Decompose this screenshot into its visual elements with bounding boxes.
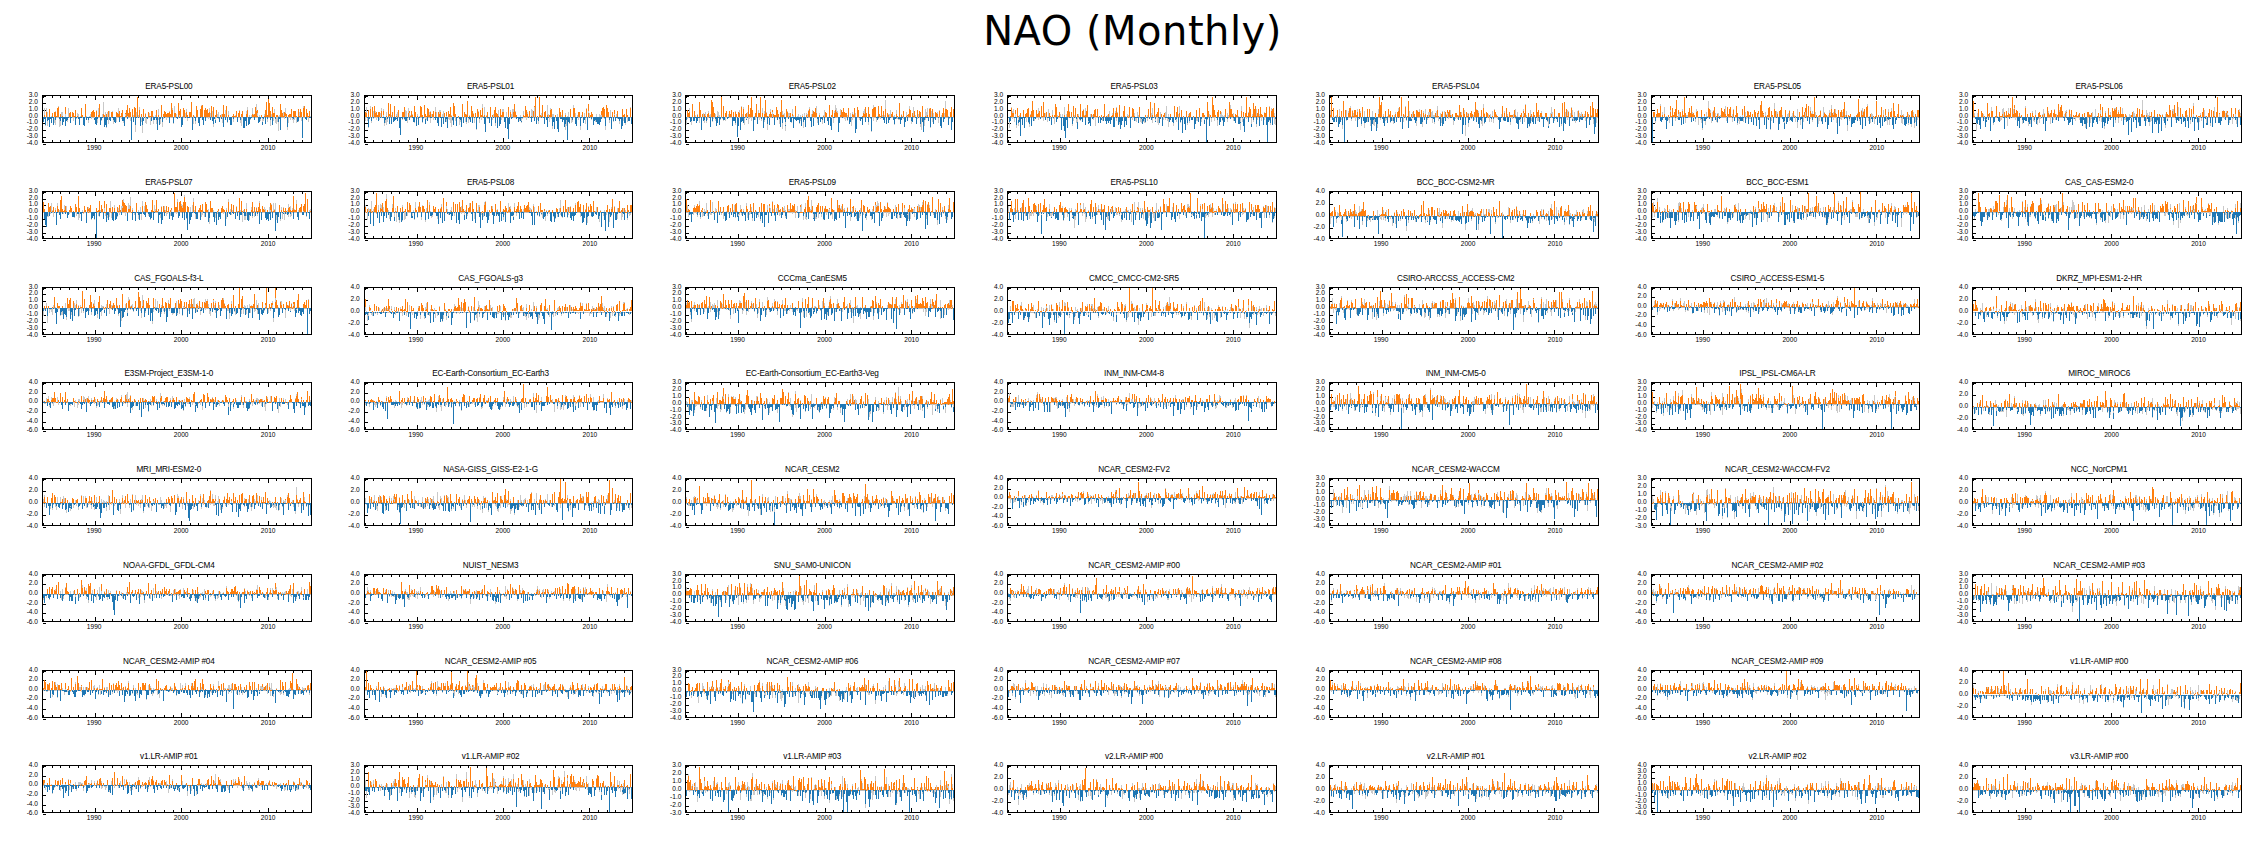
negative-anomaly-bar — [694, 691, 695, 692]
negative-anomaly-bar — [1114, 117, 1115, 127]
negative-anomaly-bar — [1134, 312, 1135, 323]
negative-anomaly-bar — [2063, 595, 2064, 602]
negative-anomaly-bar — [1061, 117, 1062, 130]
negative-anomaly-bar — [2217, 790, 2218, 797]
reference-bar — [774, 595, 775, 600]
y-axis-labels: 3.02.01.00.0-1.0-2.0-3.0-4.0 — [651, 191, 683, 239]
negative-anomaly-bar — [611, 503, 612, 510]
reference-bar — [1114, 498, 1115, 500]
negative-anomaly-bar — [1589, 594, 1590, 595]
reference-bar — [596, 787, 597, 788]
negative-anomaly-bar — [1121, 690, 1122, 697]
negative-anomaly-bar — [179, 308, 180, 309]
x-axis-minor-tick — [1598, 236, 1599, 238]
reference-bar — [461, 212, 462, 214]
negative-anomaly-bar — [1444, 594, 1445, 595]
negative-anomaly-bar — [768, 212, 769, 223]
plot-area — [43, 671, 311, 717]
reference-bar — [2117, 790, 2118, 793]
x-axis-labels: 199020002010 — [1651, 145, 1921, 157]
positive-anomaly-bar — [71, 678, 72, 689]
x-tick-label: 1990 — [730, 624, 745, 631]
negative-anomaly-bar — [1724, 790, 1725, 793]
negative-anomaly-bar — [557, 312, 558, 315]
reference-bar — [285, 308, 286, 318]
reference-bar — [918, 308, 919, 309]
plot-area — [1973, 192, 2241, 238]
negative-anomaly-bar — [1571, 404, 1572, 409]
y-tick-label: -4.0 — [348, 810, 359, 817]
negative-anomaly-bar — [937, 212, 938, 220]
negative-anomaly-bar — [102, 402, 103, 403]
y-tick-label: -4.0 — [670, 427, 681, 434]
negative-anomaly-bar — [1727, 307, 1728, 311]
y-tick-label: 0.0 — [672, 499, 681, 506]
negative-anomaly-bar — [1378, 308, 1379, 317]
y-tick-label: 2.0 — [1959, 295, 1968, 302]
negative-anomaly-bar — [1354, 216, 1355, 227]
negative-anomaly-bar — [1271, 594, 1272, 602]
x-tick-label: 2000 — [817, 432, 832, 439]
y-axis-labels: 3.02.01.00.0-1.0-2.0-3.0-4.0 — [1295, 382, 1327, 430]
negative-anomaly-bar — [485, 787, 486, 788]
negative-anomaly-bar — [427, 117, 428, 122]
negative-anomaly-bar — [828, 308, 829, 316]
negative-anomaly-bar — [127, 212, 128, 221]
positive-anomaly-bar — [889, 678, 890, 691]
negative-anomaly-bar — [1782, 594, 1783, 602]
negative-anomaly-bar — [609, 787, 610, 812]
reference-bar — [586, 312, 587, 313]
x-axis-labels: 199020002010 — [1329, 815, 1599, 827]
reference-bar — [1895, 307, 1896, 308]
reference-bar — [2201, 212, 2202, 214]
y-axis-labels: 3.02.01.00.0-1.0-2.0-3.0-4.0 — [651, 287, 683, 335]
plot-axes — [1651, 287, 1921, 335]
negative-anomaly-bar — [2212, 117, 2213, 128]
positive-anomaly-bar — [292, 673, 293, 690]
x-axis-minor-tick — [954, 671, 955, 673]
positive-anomaly-bar — [1593, 108, 1594, 117]
positive-anomaly-bar — [1860, 192, 1861, 212]
negative-anomaly-bar — [1242, 402, 1243, 403]
positive-anomaly-bar — [310, 586, 311, 594]
positive-anomaly-bar — [1773, 493, 1774, 503]
positive-anomaly-bar — [2094, 401, 2095, 408]
x-tick-label: 2000 — [1782, 720, 1797, 727]
reference-bar — [1383, 790, 1384, 798]
negative-anomaly-bar — [99, 402, 100, 406]
negative-anomaly-bar — [551, 212, 552, 222]
negative-anomaly-bar — [2083, 595, 2084, 605]
x-tick-label: 2000 — [1139, 241, 1154, 248]
negative-anomaly-bar — [113, 212, 114, 221]
y-tick-label: -4.0 — [992, 705, 1003, 712]
negative-anomaly-bar — [133, 503, 134, 510]
negative-anomaly-bar — [1652, 117, 1653, 129]
reference-bar — [2222, 117, 2223, 118]
x-axis-minor-tick — [1598, 140, 1599, 142]
plot-axes — [1972, 287, 2242, 335]
negative-anomaly-bar — [1388, 308, 1389, 312]
plot-area — [43, 383, 311, 429]
x-axis-labels: 199020002010 — [364, 528, 634, 540]
negative-anomaly-bar — [1339, 308, 1340, 312]
positive-anomaly-bar — [56, 585, 57, 593]
negative-anomaly-bar — [156, 594, 157, 598]
negative-anomaly-bar — [1035, 402, 1036, 408]
reference-bar — [1660, 307, 1661, 309]
x-axis-minor-tick — [2241, 766, 2242, 768]
positive-anomaly-bar — [1225, 109, 1226, 116]
y-tick-label: -2.0 — [992, 408, 1003, 415]
negative-anomaly-bar — [1070, 312, 1071, 313]
y-tick-label: 4.0 — [994, 475, 1003, 482]
negative-anomaly-bar — [182, 212, 183, 217]
negative-anomaly-bar — [1733, 790, 1734, 806]
positive-anomaly-bar — [731, 584, 732, 595]
negative-anomaly-bar — [2191, 212, 2192, 215]
negative-anomaly-bar — [420, 402, 421, 408]
reference-bar — [606, 594, 607, 602]
negative-anomaly-bar — [544, 503, 545, 507]
negative-anomaly-bar — [272, 212, 273, 218]
positive-anomaly-bar — [725, 394, 726, 404]
x-axis-minor-tick — [954, 619, 955, 621]
reference-bar — [1507, 404, 1508, 410]
negative-anomaly-bar — [1146, 690, 1147, 694]
negative-anomaly-bar — [580, 312, 581, 319]
x-axis-minor-tick — [1598, 810, 1599, 812]
negative-anomaly-bar — [2074, 407, 2075, 413]
negative-anomaly-bar — [924, 404, 925, 418]
negative-anomaly-bar — [1528, 790, 1529, 796]
positive-anomaly-bar — [1854, 489, 1855, 503]
positive-anomaly-bar — [1984, 584, 1985, 595]
negative-anomaly-bar — [1980, 117, 1981, 123]
x-axis-minor-tick — [2241, 810, 2242, 812]
subplot-title: DKRZ_MPI-ESM1-2-HR — [1938, 274, 2260, 283]
negative-anomaly-bar — [873, 503, 874, 505]
negative-anomaly-bar — [147, 594, 148, 596]
x-axis-minor-tick — [1598, 96, 1599, 98]
plot-axes — [685, 765, 955, 813]
y-tick-label: -2.0 — [27, 599, 38, 606]
plot-area — [1330, 192, 1598, 238]
reference-bar — [2222, 595, 2223, 597]
x-axis-labels: 199020002010 — [1972, 815, 2242, 827]
negative-anomaly-bar — [370, 212, 371, 224]
negative-anomaly-bar — [629, 503, 630, 505]
negative-anomaly-bar — [2030, 595, 2031, 601]
negative-anomaly-bar — [1985, 790, 1986, 794]
reference-bar — [1201, 790, 1202, 792]
plot-area — [1652, 479, 1920, 525]
plot-area — [1652, 766, 1920, 812]
negative-anomaly-bar — [1230, 790, 1231, 792]
y-tick-label: 2.0 — [29, 389, 38, 396]
negative-anomaly-bar — [576, 212, 577, 213]
negative-anomaly-bar — [790, 790, 791, 801]
negative-anomaly-bar — [2043, 595, 2044, 596]
y-tick-label: 0.0 — [1637, 590, 1646, 597]
negative-anomaly-bar — [2058, 595, 2059, 596]
x-tick-label: 1990 — [1695, 528, 1710, 535]
negative-anomaly-bar — [543, 594, 544, 597]
positive-anomaly-bar — [181, 301, 182, 308]
negative-anomaly-bar — [845, 212, 846, 228]
reference-bar — [738, 308, 739, 309]
negative-anomaly-bar — [176, 503, 177, 512]
x-tick-label: 2000 — [817, 720, 832, 727]
positive-anomaly-bar — [195, 679, 196, 689]
negative-anomaly-bar — [210, 402, 211, 403]
positive-anomaly-bar — [1031, 586, 1032, 594]
negative-anomaly-bar — [1261, 212, 1262, 219]
plot-axes — [1007, 382, 1277, 430]
reference-bar — [1346, 500, 1347, 509]
positive-anomaly-bar — [1816, 783, 1817, 791]
x-tick-label: 1990 — [1052, 241, 1067, 248]
negative-anomaly-bar — [1445, 500, 1446, 505]
negative-anomaly-bar — [1538, 790, 1539, 796]
negative-anomaly-bar — [1515, 216, 1516, 218]
positive-anomaly-bar — [1732, 394, 1733, 404]
negative-anomaly-bar — [1739, 690, 1740, 696]
negative-anomaly-bar — [197, 212, 198, 218]
positive-anomaly-bar — [903, 295, 904, 308]
x-tick-label: 1990 — [730, 241, 745, 248]
negative-anomaly-bar — [2165, 407, 2166, 415]
y-axis-labels: 3.02.01.00.0-1.0-2.0-3.0-4.0 — [1617, 382, 1649, 430]
plot-area — [43, 192, 311, 238]
negative-anomaly-bar — [612, 787, 613, 794]
plot-axes — [364, 574, 634, 622]
negative-anomaly-bar — [1080, 498, 1081, 500]
negative-anomaly-bar — [1396, 594, 1397, 595]
x-axis-minor-tick — [1598, 383, 1599, 385]
negative-anomaly-bar — [135, 117, 136, 125]
negative-anomaly-bar — [1558, 308, 1559, 316]
negative-anomaly-bar — [1883, 307, 1884, 311]
negative-anomaly-bar — [2221, 117, 2222, 122]
y-axis-labels: 3.02.01.00.0-1.0-2.0-3.0-4.0 — [651, 95, 683, 143]
x-tick-label: 1990 — [409, 528, 424, 535]
x-tick-label: 1990 — [1052, 624, 1067, 631]
positive-anomaly-bar — [1266, 107, 1267, 117]
positive-anomaly-bar — [1250, 109, 1251, 116]
positive-anomaly-bar — [1881, 107, 1882, 116]
negative-anomaly-bar — [400, 117, 401, 135]
x-tick-label: 1990 — [1052, 528, 1067, 535]
plot-axes — [42, 765, 312, 813]
x-tick-label: 2000 — [817, 815, 832, 822]
negative-anomaly-bar — [532, 402, 533, 407]
y-tick-label: 4.0 — [1637, 666, 1646, 673]
negative-anomaly-bar — [2139, 503, 2140, 510]
negative-anomaly-bar — [871, 503, 872, 508]
positive-anomaly-bar — [753, 203, 754, 212]
negative-anomaly-bar — [532, 312, 533, 320]
negative-anomaly-bar — [279, 308, 280, 315]
x-axis-minor-tick — [954, 715, 955, 717]
subplot-title: ERA5-PSL04 — [1295, 82, 1617, 91]
x-tick-label: 2000 — [174, 432, 189, 439]
negative-anomaly-bar — [798, 503, 799, 507]
positive-anomaly-bar — [1455, 396, 1456, 404]
negative-anomaly-bar — [1230, 498, 1231, 503]
negative-anomaly-bar — [1823, 503, 1824, 514]
y-tick-label: 2.0 — [1316, 199, 1325, 206]
reference-bar — [726, 595, 727, 599]
reference-bar — [492, 503, 493, 504]
subplot-panel: NASA-GISS_GISS-E2-1-G4.02.00.0-2.0-4.019… — [330, 459, 652, 555]
reference-bar — [894, 691, 895, 695]
reference-bar — [157, 301, 158, 309]
y-tick-label: -2.0 — [992, 798, 1003, 805]
x-axis-labels: 199020002010 — [1651, 815, 1921, 827]
plot-axes — [1972, 574, 2242, 622]
negative-anomaly-bar — [1162, 212, 1163, 214]
reference-bar — [805, 691, 806, 693]
positive-anomaly-bar — [580, 204, 581, 212]
negative-anomaly-bar — [482, 594, 483, 598]
negative-anomaly-bar — [1434, 117, 1435, 120]
plot-axes — [1329, 382, 1599, 430]
negative-anomaly-bar — [1919, 690, 1920, 691]
x-axis-minor-tick — [632, 383, 633, 385]
negative-anomaly-bar — [786, 212, 787, 219]
reference-bar — [192, 402, 193, 405]
x-tick-label: 1990 — [409, 337, 424, 344]
positive-anomaly-bar — [583, 205, 584, 212]
negative-anomaly-bar — [1677, 503, 1678, 506]
positive-anomaly-bar — [914, 778, 915, 790]
negative-anomaly-bar — [279, 503, 280, 505]
plot-axes — [1329, 574, 1599, 622]
reference-bar — [1735, 404, 1736, 405]
x-axis-minor-tick — [1919, 523, 1920, 525]
reference-bar — [1549, 500, 1550, 501]
positive-anomaly-bar — [862, 297, 863, 308]
negative-anomaly-bar — [1429, 500, 1430, 502]
negative-anomaly-bar — [1462, 500, 1463, 506]
subplot-panel: v1.LR-AMIP #023.02.01.00.0-1.0-2.0-3.0-4… — [330, 746, 652, 842]
positive-anomaly-bar — [129, 582, 130, 594]
positive-anomaly-bar — [1981, 586, 1982, 595]
x-axis-labels: 199020002010 — [685, 241, 955, 253]
negative-anomaly-bar — [1516, 404, 1517, 407]
negative-anomaly-bar — [1396, 790, 1397, 799]
negative-anomaly-bar — [476, 117, 477, 129]
negative-anomaly-bar — [1508, 690, 1509, 696]
negative-anomaly-bar — [288, 402, 289, 405]
negative-anomaly-bar — [745, 691, 746, 699]
negative-anomaly-bar — [2019, 117, 2020, 128]
negative-anomaly-bar — [1818, 404, 1819, 408]
negative-anomaly-bar — [1261, 498, 1262, 515]
positive-anomaly-bar — [816, 583, 817, 596]
negative-anomaly-bar — [2172, 695, 2173, 699]
negative-anomaly-bar — [1579, 790, 1580, 791]
negative-anomaly-bar — [2095, 407, 2096, 417]
negative-anomaly-bar — [226, 594, 227, 596]
negative-anomaly-bar — [2123, 790, 2124, 797]
reference-bar — [1033, 790, 1034, 791]
negative-anomaly-bar — [53, 594, 54, 598]
negative-anomaly-bar — [567, 594, 568, 598]
positive-anomaly-bar — [829, 105, 830, 117]
reference-bar — [560, 503, 561, 508]
negative-anomaly-bar — [1469, 117, 1470, 120]
negative-anomaly-bar — [761, 691, 762, 702]
negative-anomaly-bar — [1333, 690, 1334, 694]
reference-bar — [1763, 212, 1764, 220]
x-axis-minor-tick — [2241, 288, 2242, 290]
negative-anomaly-bar — [65, 212, 66, 213]
negative-anomaly-bar — [584, 594, 585, 597]
subplot-panel: CSIRO-ARCCSS_ACCESS-CM23.02.01.00.0-1.0-… — [1295, 268, 1617, 364]
positive-anomaly-bar — [761, 782, 762, 790]
negative-anomaly-bar — [617, 503, 618, 504]
x-axis-labels: 199020002010 — [364, 432, 634, 444]
negative-anomaly-bar — [226, 690, 227, 695]
negative-anomaly-bar — [2152, 790, 2153, 796]
negative-anomaly-bar — [1687, 117, 1688, 119]
negative-anomaly-bar — [2176, 595, 2177, 615]
positive-anomaly-bar — [45, 682, 46, 690]
x-tick-label: 1990 — [87, 528, 102, 535]
negative-anomaly-bar — [417, 212, 418, 217]
negative-anomaly-bar — [369, 787, 370, 795]
negative-anomaly-bar — [237, 212, 238, 216]
negative-anomaly-bar — [1082, 117, 1083, 123]
negative-anomaly-bar — [1264, 402, 1265, 411]
negative-anomaly-bar — [2113, 407, 2114, 410]
positive-anomaly-bar — [1689, 204, 1690, 213]
reference-bar — [2235, 312, 2236, 314]
y-tick-label: -2.0 — [670, 802, 681, 809]
negative-anomaly-bar — [1182, 790, 1183, 791]
y-tick-label: -4.0 — [1313, 331, 1324, 338]
positive-anomaly-bar — [2163, 495, 2164, 503]
y-tick-label: -2.0 — [348, 695, 359, 702]
negative-anomaly-bar — [766, 503, 767, 512]
negative-anomaly-bar — [1186, 212, 1187, 213]
negative-anomaly-bar — [1992, 312, 1993, 320]
y-tick-label: 4.0 — [29, 379, 38, 386]
negative-anomaly-bar — [2222, 212, 2223, 222]
negative-anomaly-bar — [2090, 407, 2091, 414]
negative-anomaly-bar — [1837, 212, 1838, 221]
negative-anomaly-bar — [629, 117, 630, 122]
reference-bar — [179, 308, 180, 313]
negative-anomaly-bar — [1352, 790, 1353, 808]
negative-anomaly-bar — [2014, 595, 2015, 597]
negative-anomaly-bar — [1740, 503, 1741, 504]
y-tick-label: 2.0 — [29, 487, 38, 494]
y-axis-labels: 3.02.01.00.0-1.0-2.0-3.0-4.0 — [973, 95, 1005, 143]
negative-anomaly-bar — [1171, 594, 1172, 598]
negative-anomaly-bar — [1235, 790, 1236, 799]
reference-bar — [2158, 595, 2159, 599]
x-axis-minor-tick — [632, 332, 633, 334]
positive-anomaly-bar — [465, 302, 466, 312]
negative-anomaly-bar — [1733, 212, 1734, 213]
plot-area — [365, 766, 633, 812]
positive-anomaly-bar — [375, 594, 376, 595]
negative-anomaly-bar — [182, 308, 183, 315]
